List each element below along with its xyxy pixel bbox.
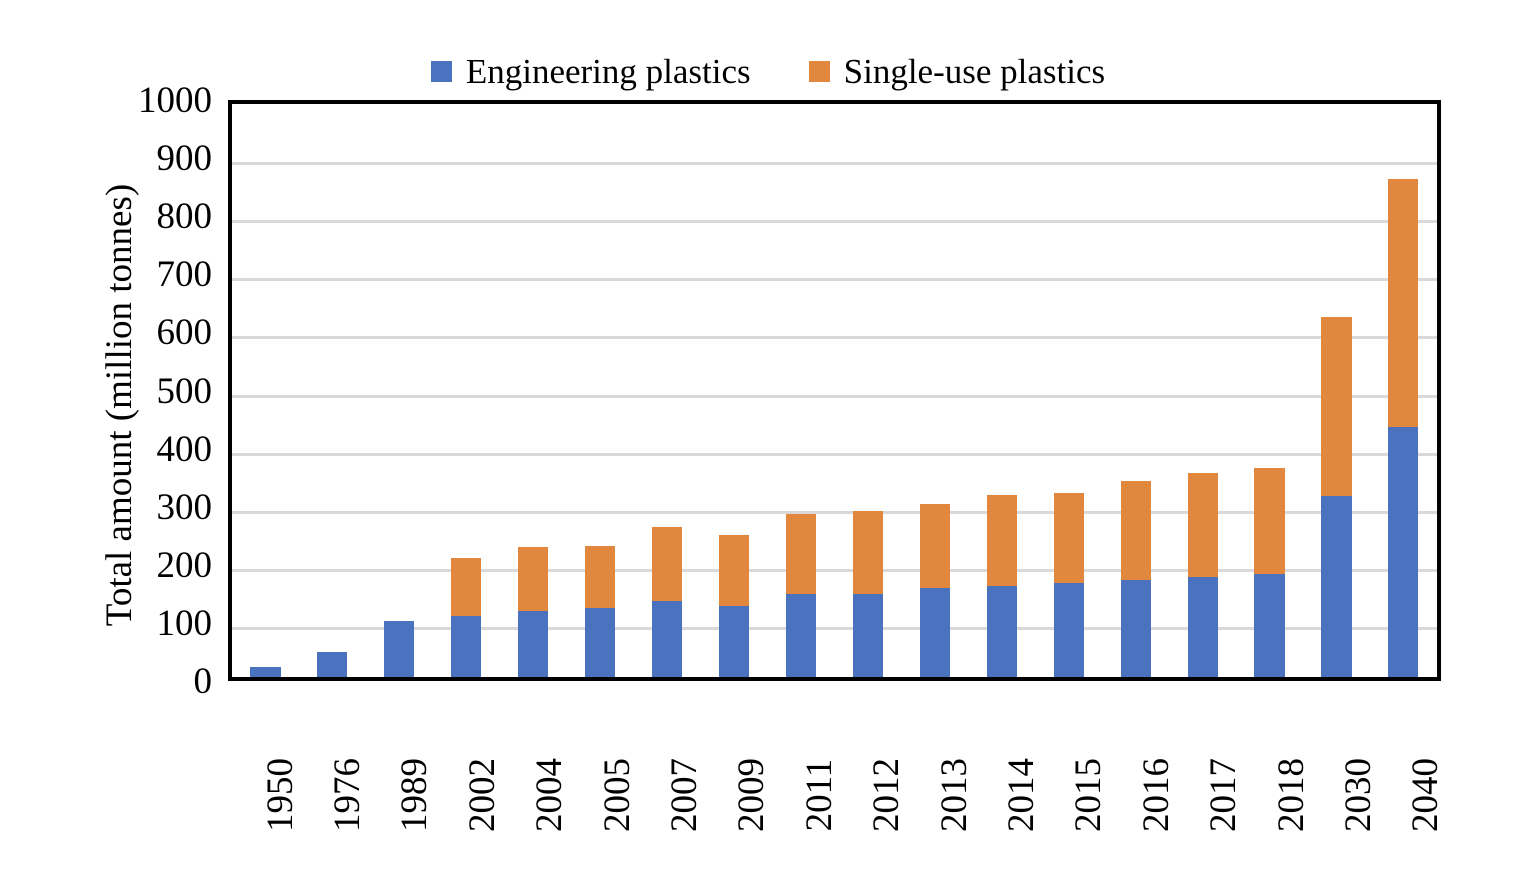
x-axis-tick-labels: 1950197619892002200420052007200920112012… — [228, 685, 1441, 825]
x-axis-tick-2007: 2007 — [666, 758, 703, 832]
x-axis-slot-2030: 2030 — [1306, 685, 1373, 825]
bar-segment-2017-engineering-plastics[interactable] — [1188, 577, 1218, 677]
bar-segment-2002-engineering-plastics[interactable] — [451, 616, 481, 677]
bar-segment-2030-single-use-plastics[interactable] — [1321, 317, 1351, 496]
bar-segment-2011-single-use-plastics[interactable] — [786, 514, 816, 594]
x-axis-slot-2040: 2040 — [1374, 685, 1441, 825]
legend-swatch-single-use-plastics — [809, 61, 830, 82]
bar-segment-2002-single-use-plastics[interactable] — [451, 558, 481, 616]
bar-segment-2015-engineering-plastics[interactable] — [1054, 583, 1084, 677]
bar-segment-2005-engineering-plastics[interactable] — [585, 608, 615, 677]
x-axis-slot-1989: 1989 — [363, 685, 430, 825]
x-axis-slot-2017: 2017 — [1171, 685, 1238, 825]
bar-stack-2004[interactable] — [518, 547, 548, 677]
bar-stack-2015[interactable] — [1054, 493, 1084, 677]
x-axis-slot-2007: 2007 — [632, 685, 699, 825]
x-axis-slot-2005: 2005 — [565, 685, 632, 825]
x-axis-slot-2009: 2009 — [700, 685, 767, 825]
y-axis-tick-100: 100 — [72, 605, 212, 642]
bar-slot-2014 — [968, 104, 1035, 677]
bar-slot-2002 — [433, 104, 500, 677]
bar-slot-2009 — [701, 104, 768, 677]
legend-swatch-engineering-plastics — [431, 61, 452, 82]
legend-label-single-use-plastics: Single-use plastics — [844, 54, 1106, 89]
x-axis-slot-2013: 2013 — [902, 685, 969, 825]
bar-stack-2013[interactable] — [920, 504, 950, 677]
bar-slot-1976 — [299, 104, 366, 677]
bar-segment-2009-engineering-plastics[interactable] — [719, 606, 749, 677]
y-axis-tick-300: 300 — [72, 489, 212, 526]
y-axis-tick-900: 900 — [72, 140, 212, 177]
bar-slot-2005 — [567, 104, 634, 677]
x-axis-slot-2015: 2015 — [1037, 685, 1104, 825]
bar-stack-2002[interactable] — [451, 558, 481, 677]
bar-stack-2017[interactable] — [1188, 473, 1218, 678]
bar-slot-2030 — [1303, 104, 1370, 677]
bar-stack-1950[interactable] — [250, 667, 280, 677]
bar-segment-2012-single-use-plastics[interactable] — [853, 511, 883, 594]
x-axis-tick-2002: 2002 — [464, 758, 501, 832]
y-axis-tick-800: 800 — [72, 198, 212, 235]
x-axis-tick-2016: 2016 — [1138, 758, 1175, 832]
bar-segment-2040-engineering-plastics[interactable] — [1388, 427, 1418, 677]
bar-segment-2004-engineering-plastics[interactable] — [518, 611, 548, 677]
bar-segment-2015-single-use-plastics[interactable] — [1054, 493, 1084, 583]
legend-label-engineering-plastics: Engineering plastics — [466, 54, 751, 89]
bar-stack-1976[interactable] — [317, 652, 347, 677]
bar-slot-1989 — [366, 104, 433, 677]
chart-legend: Engineering plastics Single-use plastics — [0, 48, 1536, 94]
x-axis-tick-2005: 2005 — [599, 758, 636, 832]
x-axis-slot-2011: 2011 — [767, 685, 834, 825]
y-axis-tick-labels: 10009008007006005004003002001000 — [72, 100, 212, 681]
bar-chart: Engineering plastics Single-use plastics… — [0, 0, 1536, 891]
bar-segment-2017-single-use-plastics[interactable] — [1188, 473, 1218, 578]
bar-stack-2005[interactable] — [585, 546, 615, 677]
x-axis-tick-2030: 2030 — [1340, 758, 1377, 832]
bar-slot-2017 — [1169, 104, 1236, 677]
bar-segment-2005-single-use-plastics[interactable] — [585, 546, 615, 608]
bar-segment-2030-engineering-plastics[interactable] — [1321, 496, 1351, 677]
bar-segment-2007-engineering-plastics[interactable] — [652, 601, 682, 677]
x-axis-slot-2016: 2016 — [1104, 685, 1171, 825]
x-axis-tick-2011: 2011 — [801, 759, 838, 832]
plot-area — [228, 100, 1441, 681]
bar-slot-1950 — [232, 104, 299, 677]
x-axis-tick-2012: 2012 — [868, 758, 905, 832]
y-axis-tick-0: 0 — [72, 663, 212, 700]
bar-stack-2014[interactable] — [987, 495, 1017, 677]
bar-segment-2014-single-use-plastics[interactable] — [987, 495, 1017, 586]
y-axis-tick-400: 400 — [72, 431, 212, 468]
x-axis-slot-1976: 1976 — [295, 685, 362, 825]
bar-segment-2004-single-use-plastics[interactable] — [518, 547, 548, 611]
x-axis-tick-2018: 2018 — [1273, 758, 1310, 832]
bar-segment-2016-engineering-plastics[interactable] — [1121, 580, 1151, 677]
bar-stack-2011[interactable] — [786, 514, 816, 677]
x-axis-tick-2015: 2015 — [1070, 758, 1107, 832]
x-axis-slot-2014: 2014 — [969, 685, 1036, 825]
bar-segment-1976-engineering-plastics[interactable] — [317, 652, 347, 677]
bar-segment-2007-single-use-plastics[interactable] — [652, 527, 682, 602]
bar-stack-1989[interactable] — [384, 621, 414, 677]
x-axis-tick-2013: 2013 — [936, 758, 973, 832]
x-axis-slot-2012: 2012 — [835, 685, 902, 825]
bar-slot-2012 — [834, 104, 901, 677]
bar-stack-2030[interactable] — [1321, 317, 1351, 677]
bar-segment-2016-single-use-plastics[interactable] — [1121, 481, 1151, 580]
bar-stack-2007[interactable] — [652, 527, 682, 677]
legend-item-engineering-plastics[interactable]: Engineering plastics — [431, 54, 751, 89]
x-axis-tick-2040: 2040 — [1407, 758, 1444, 832]
x-axis-slot-2004: 2004 — [498, 685, 565, 825]
bar-segment-1950-engineering-plastics[interactable] — [250, 667, 280, 677]
x-axis-tick-1989: 1989 — [396, 758, 433, 832]
legend-item-single-use-plastics[interactable]: Single-use plastics — [809, 54, 1106, 89]
bar-segment-2011-engineering-plastics[interactable] — [786, 594, 816, 677]
bar-stack-2040[interactable] — [1388, 179, 1418, 677]
x-axis-tick-2004: 2004 — [531, 758, 568, 832]
bar-stack-2009[interactable] — [719, 535, 749, 677]
bar-segment-2013-single-use-plastics[interactable] — [920, 504, 950, 587]
bar-segment-2014-engineering-plastics[interactable] — [987, 586, 1017, 677]
bar-slot-2007 — [634, 104, 701, 677]
bar-segment-1989-engineering-plastics[interactable] — [384, 621, 414, 677]
bar-stack-2012[interactable] — [853, 511, 883, 677]
bar-slot-2015 — [1035, 104, 1102, 677]
y-axis-tick-500: 500 — [72, 373, 212, 410]
bar-segment-2012-engineering-plastics[interactable] — [853, 594, 883, 677]
y-axis-tick-1000: 1000 — [72, 82, 212, 119]
bar-stack-2018[interactable] — [1254, 468, 1284, 677]
bar-segment-2013-engineering-plastics[interactable] — [920, 588, 950, 677]
bar-series-container — [232, 104, 1437, 677]
x-axis-slot-1950: 1950 — [228, 685, 295, 825]
bar-slot-2040 — [1370, 104, 1437, 677]
y-axis-tick-600: 600 — [72, 314, 212, 351]
y-axis-tick-200: 200 — [72, 547, 212, 584]
x-axis-tick-2014: 2014 — [1003, 758, 1040, 832]
bar-slot-2018 — [1236, 104, 1303, 677]
bar-segment-2040-single-use-plastics[interactable] — [1388, 179, 1418, 428]
bar-stack-2016[interactable] — [1121, 481, 1151, 677]
bar-slot-2011 — [768, 104, 835, 677]
bar-segment-2009-single-use-plastics[interactable] — [719, 535, 749, 606]
bar-segment-2018-engineering-plastics[interactable] — [1254, 574, 1284, 677]
bar-segment-2018-single-use-plastics[interactable] — [1254, 468, 1284, 574]
x-axis-tick-1976: 1976 — [329, 758, 366, 832]
x-axis-tick-1950: 1950 — [262, 758, 299, 832]
bar-slot-2004 — [500, 104, 567, 677]
y-axis-tick-700: 700 — [72, 256, 212, 293]
bar-slot-2013 — [901, 104, 968, 677]
x-axis-tick-2017: 2017 — [1205, 758, 1242, 832]
x-axis-slot-2018: 2018 — [1239, 685, 1306, 825]
x-axis-slot-2002: 2002 — [430, 685, 497, 825]
bar-slot-2016 — [1102, 104, 1169, 677]
x-axis-tick-2009: 2009 — [733, 758, 770, 832]
